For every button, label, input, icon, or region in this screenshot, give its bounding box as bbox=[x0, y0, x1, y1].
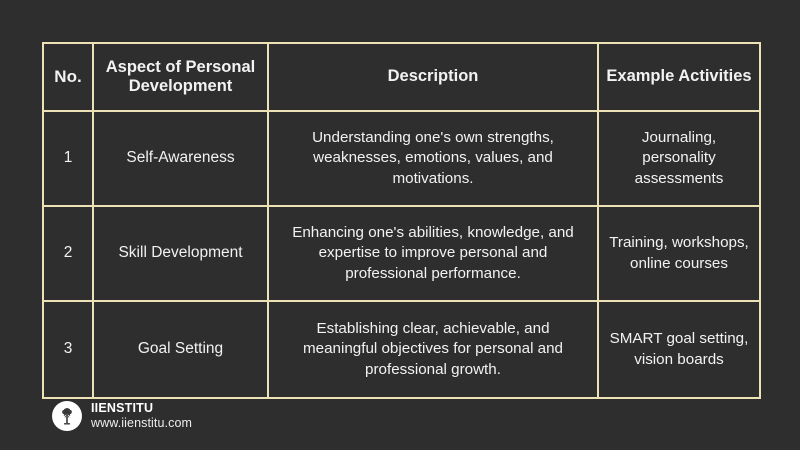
table-body: 1 Self-Awareness Understanding one's own… bbox=[44, 112, 759, 397]
cell-description: Enhancing one's abilities, knowledge, an… bbox=[269, 207, 599, 302]
table-row: 1 Self-Awareness Understanding one's own… bbox=[44, 112, 759, 207]
column-header-aspect: Aspect of Personal Development bbox=[94, 44, 269, 112]
column-header-example-activities: Example Activities bbox=[599, 44, 759, 112]
brand-url: www.iienstitu.com bbox=[91, 416, 192, 431]
cell-aspect: Self-Awareness bbox=[94, 112, 269, 207]
cell-no: 2 bbox=[44, 207, 94, 302]
cell-no: 1 bbox=[44, 112, 94, 207]
cell-no: 3 bbox=[44, 302, 94, 397]
brand-text-block: IIENSTITU www.iienstitu.com bbox=[91, 401, 192, 431]
cell-example-activities: SMART goal setting, vision boards bbox=[599, 302, 759, 397]
cell-description: Understanding one's own strengths, weakn… bbox=[269, 112, 599, 207]
cell-aspect: Goal Setting bbox=[94, 302, 269, 397]
column-header-no: No. bbox=[44, 44, 94, 112]
table-row: 2 Skill Development Enhancing one's abil… bbox=[44, 207, 759, 302]
personal-development-table: No. Aspect of Personal Development Descr… bbox=[42, 42, 761, 399]
brand-name: IIENSTITU bbox=[91, 401, 192, 416]
cell-aspect: Skill Development bbox=[94, 207, 269, 302]
table-header: No. Aspect of Personal Development Descr… bbox=[44, 44, 759, 112]
table-row: 3 Goal Setting Establishing clear, achie… bbox=[44, 302, 759, 397]
cell-example-activities: Training, workshops, online courses bbox=[599, 207, 759, 302]
footer-branding: IIENSTITU www.iienstitu.com bbox=[52, 401, 192, 431]
table-header-row: No. Aspect of Personal Development Descr… bbox=[44, 44, 759, 112]
cell-description: Establishing clear, achievable, and mean… bbox=[269, 302, 599, 397]
cell-example-activities: Journaling, personality assessments bbox=[599, 112, 759, 207]
column-header-description: Description bbox=[269, 44, 599, 112]
tree-logo-icon bbox=[52, 401, 82, 431]
personal-development-table-container: No. Aspect of Personal Development Descr… bbox=[42, 42, 757, 388]
